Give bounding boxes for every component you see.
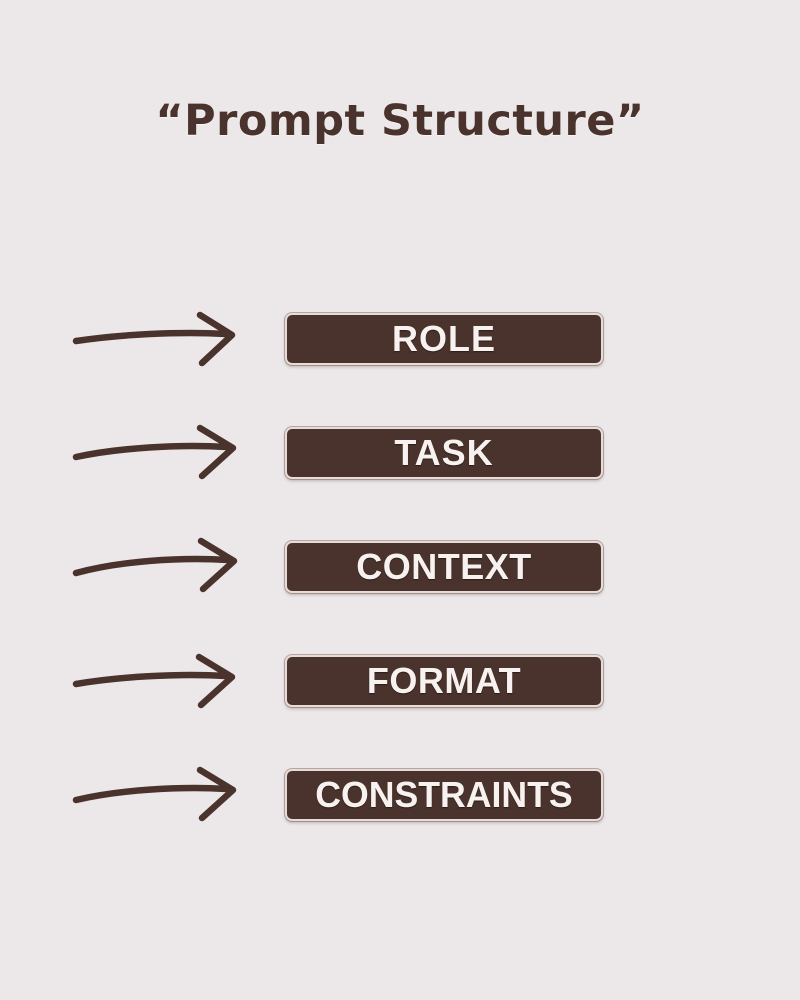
prompt-structure-diagram: “Prompt Structure” ROLE TASK [0,0,800,1000]
diagram-row-task: TASK [0,427,800,481]
page-title: “Prompt Structure” [0,96,800,146]
label-text-constraints: CONSTRAINTS [315,777,572,813]
label-box-context[interactable]: CONTEXT [285,541,603,593]
diagram-row-format: FORMAT [0,655,800,709]
label-box-constraints[interactable]: CONSTRAINTS [285,769,603,821]
label-box-role[interactable]: ROLE [285,313,603,365]
diagram-row-role: ROLE [0,313,800,367]
diagram-row-context: CONTEXT [0,541,800,595]
diagram-row-constraints: CONSTRAINTS [0,769,800,823]
label-text-format: FORMAT [367,663,521,699]
arrow-icon [66,301,256,379]
arrow-icon [66,757,256,835]
arrow-icon [66,529,256,607]
label-text-task: TASK [394,435,493,471]
arrow-icon [66,415,256,493]
label-text-role: ROLE [392,321,496,357]
arrow-icon [66,643,256,721]
label-box-task[interactable]: TASK [285,427,603,479]
label-box-format[interactable]: FORMAT [285,655,603,707]
label-text-context: CONTEXT [356,549,532,585]
